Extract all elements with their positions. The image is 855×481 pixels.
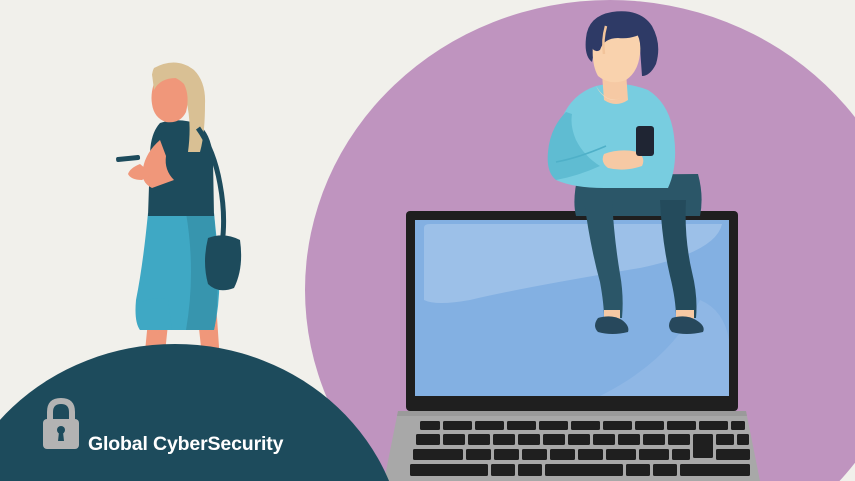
banner-title-line1: Global CyberSecurity <box>88 431 338 457</box>
poster-canvas: Global CyberSecurity Awareness Month <box>0 0 855 481</box>
banner-title: Global CyberSecurity Awareness Month <box>88 405 338 481</box>
lock-shackle <box>47 398 75 421</box>
lock-icon <box>43 398 79 449</box>
lock-keyhole-stem <box>58 432 64 441</box>
